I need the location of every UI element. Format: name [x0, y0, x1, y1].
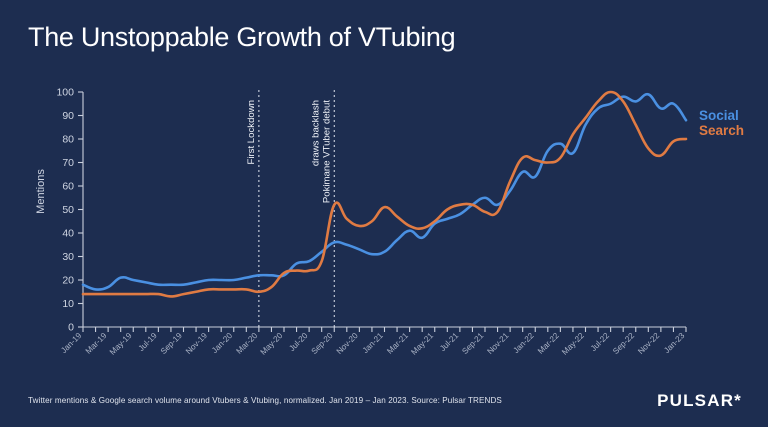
x-axis: Jan-19Mar-19May-19Jul-19Sep-19Nov-19Jan-…: [59, 327, 686, 357]
y-tick-label: 20: [62, 275, 74, 287]
y-tick-label: 30: [62, 251, 74, 263]
x-tick-label: Jan-23: [662, 331, 686, 355]
x-tick-label: Sep-22: [611, 331, 636, 356]
x-tick-label: May-19: [108, 331, 134, 357]
y-tick-label: 90: [62, 110, 74, 122]
legend-label-search: Search: [699, 123, 744, 138]
chart-legend: Social Search: [699, 108, 744, 138]
chart-plot-area: 0102030405060708090100 Jan-19Mar-19May-1…: [0, 0, 768, 427]
series-line-social: [83, 94, 686, 289]
legend-label-social: Social: [699, 108, 739, 123]
x-tick-label: Nov-20: [335, 331, 360, 356]
annotation-label: draws backlash: [310, 100, 321, 166]
x-tick-label: Jul-21: [438, 331, 460, 353]
x-tick-label: Sep-20: [310, 331, 335, 356]
x-tick-label: Nov-19: [184, 331, 209, 356]
y-tick-label: 80: [62, 134, 74, 146]
pulsar-logo: PULSAR*: [657, 391, 742, 411]
x-tick-label: Jul-22: [589, 331, 611, 353]
legend-item-search[interactable]: Search: [699, 123, 744, 138]
x-tick-label: Jan-22: [512, 331, 536, 355]
x-tick-label: Nov-21: [486, 331, 511, 356]
x-tick-label: Jul-20: [287, 331, 309, 353]
annotation-label: Pokimane VTuber debut: [321, 100, 332, 203]
x-tick-label: May-20: [259, 331, 285, 357]
x-tick-label: Jan-19: [59, 331, 83, 355]
series-line-search: [83, 92, 686, 296]
chart-svg: 0102030405060708090100 Jan-19Mar-19May-1…: [0, 0, 768, 427]
annotation-label: First Lockdown: [246, 100, 257, 165]
y-tick-label: 10: [62, 298, 74, 310]
y-tick-label: 100: [56, 87, 74, 99]
y-tick-label: 0: [68, 322, 74, 334]
x-tick-label: May-21: [409, 331, 435, 357]
x-tick-label: Mar-22: [536, 331, 561, 356]
y-axis: 0102030405060708090100: [56, 87, 83, 334]
x-tick-label: Jul-19: [137, 331, 159, 353]
x-tick-label: Sep-19: [159, 331, 184, 356]
y-tick-label: 40: [62, 228, 74, 240]
x-tick-label: Jan-20: [210, 331, 234, 355]
y-tick-label: 60: [62, 181, 74, 193]
data-series: [83, 92, 686, 296]
x-tick-label: Nov-22: [636, 331, 661, 356]
x-tick-label: May-22: [560, 331, 586, 357]
y-tick-label: 50: [62, 204, 74, 216]
y-axis-title: Mentions: [35, 169, 47, 214]
x-tick-label: Mar-19: [84, 331, 109, 356]
source-note: Twitter mentions & Google search volume …: [28, 396, 502, 405]
legend-item-social[interactable]: Social: [699, 108, 744, 123]
x-tick-label: Mar-21: [385, 331, 410, 356]
x-tick-label: Mar-20: [235, 331, 260, 356]
x-tick-label: Sep-21: [460, 331, 485, 356]
x-tick-label: Jan-21: [361, 331, 385, 355]
y-tick-label: 70: [62, 157, 74, 169]
